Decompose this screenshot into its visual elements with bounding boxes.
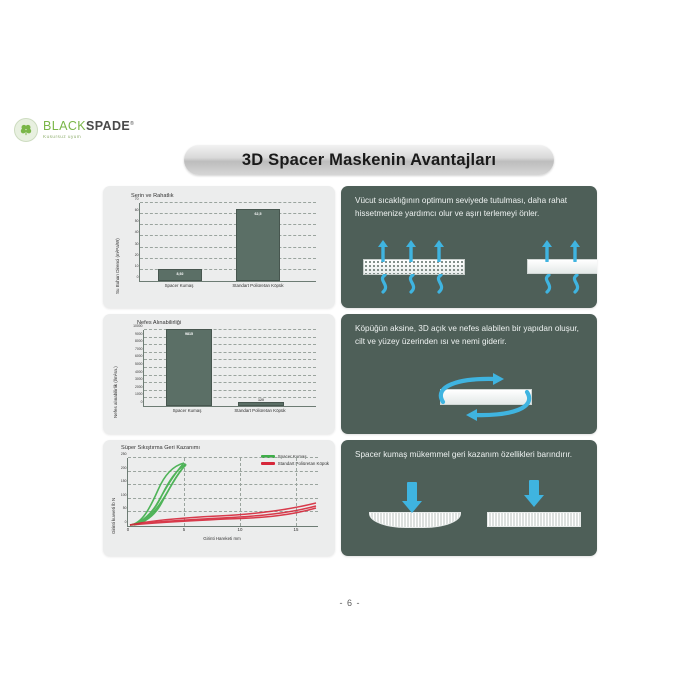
chart-ylabel-1: Su Buharı Direnci (m²Pa/W) [115, 238, 120, 294]
bar-value: 8,92 [159, 272, 201, 276]
brand-tagline: Kusursuz uyum [43, 135, 134, 140]
ytick: 4000 [135, 370, 143, 374]
content-row-2: Nefes Alınabilirliği Nefes alınabilirlik… [103, 314, 597, 434]
page-title: 3D Spacer Maskenin Avantajları [242, 151, 496, 170]
ytick: 2000 [135, 385, 143, 389]
chart-plot-1: 70 60 50 40 30 20 10 0 8,92 62,5 [139, 203, 316, 282]
ytick: 3000 [135, 377, 143, 381]
ytick: 40 [135, 230, 139, 234]
bar-value: 120 [239, 398, 283, 402]
ytick: 10000 [133, 324, 142, 328]
airflow-up-arrows-right [535, 238, 597, 262]
ytick: 8000 [135, 339, 143, 343]
chart-ylabel-2: Nefes alınabilirlik (l/m²sn.) [113, 366, 118, 418]
bar-standart-poliuretan: 62,5 [236, 209, 280, 281]
text-panel-3: Spacer kumaş mükemmel geri kazanım özell… [341, 440, 597, 556]
chart-panel-water-vapour: Serin ve Rahatlık Su Buharı Direnci (m²P… [103, 186, 335, 308]
content-row-1: Serin ve Rahatlık Su Buharı Direnci (m²P… [103, 186, 597, 308]
ytick: 100 [121, 493, 127, 497]
chart-plot-3: 250 200 150 100 50 0 [127, 458, 318, 527]
ytick: 70 [135, 197, 139, 201]
ytick: 20 [135, 253, 139, 257]
airflow-wave-arrows-left [371, 274, 467, 296]
content-row-3: Süper Sıkıştırma Geri Kazanımı Girinti k… [103, 440, 597, 556]
page-number: - 6 - [0, 598, 700, 608]
ytick: 10 [135, 264, 139, 268]
brand-logo: BLACKSPADE® Kusursuz uyum [14, 118, 134, 142]
ytick: 50 [135, 219, 139, 223]
brand-name-dark: SPADE [86, 119, 130, 133]
ytick: 0 [137, 275, 139, 279]
bar-spacer-kumas: 8,92 [158, 269, 202, 281]
chart-xlabel-3: Girinti Hareketi mm [127, 536, 317, 541]
airflow-up-arrows-left [371, 238, 467, 262]
text-panel-1: Vücut sıcaklığının optimum seviyede tutu… [341, 186, 597, 308]
bar-spacer-kumas: 9815 [166, 329, 212, 406]
xtick-label: 15 [290, 527, 302, 533]
chart-panel-compression-recovery: Süper Sıkıştırma Geri Kazanımı Girinti k… [103, 440, 335, 556]
document-page: BLACKSPADE® Kusursuz uyum 3D Spacer Mask… [0, 0, 700, 700]
panel-text-3: Spacer kumaş mükemmel geri kazanım özell… [355, 449, 587, 462]
xtick-label: Standart Poliüretan Köpük [222, 283, 294, 289]
ytick: 1000 [135, 392, 143, 396]
xtick-label: 10 [234, 527, 246, 533]
panel-text-2: Köpüğün aksine, 3D açık ve nefes alabile… [355, 323, 587, 348]
xtick-label: Spacer Kumaş [142, 283, 216, 289]
ytick: 50 [123, 506, 127, 510]
bar-value: 9815 [167, 332, 211, 336]
bar-standart-poliuretan: 120 [238, 402, 284, 406]
registered-mark: ® [130, 121, 134, 127]
xtick-label: 0 [122, 527, 134, 533]
chart-title-3: Süper Sıkıştırma Geri Kazanımı [121, 445, 200, 451]
hysteresis-curves [128, 458, 318, 526]
ytick: 30 [135, 242, 139, 246]
clover-circle-icon [14, 118, 38, 142]
ytick: 150 [121, 479, 127, 483]
text-panel-2: Köpüğün aksine, 3D açık ve nefes alabile… [341, 314, 597, 434]
panel-text-1: Vücut sıcaklığının optimum seviyede tutu… [355, 195, 587, 220]
recovered-slab-illustration [487, 512, 581, 527]
brand-name-light: BLACK [43, 119, 86, 133]
ytick: 60 [135, 208, 139, 212]
circulating-arrows-icon [419, 372, 551, 422]
ytick: 9000 [135, 332, 143, 336]
down-arrow-right-icon [521, 480, 547, 508]
ytick: 6000 [135, 354, 143, 358]
chart-ylabel-3: Girinti kuvveti lb N [111, 498, 116, 534]
xtick-label: Spacer Kumaş [150, 408, 224, 414]
ytick: 0 [125, 520, 127, 524]
ytick: 5000 [135, 362, 143, 366]
chart-plot-2: 10000 9000 8000 7000 6000 5000 4000 3000… [143, 330, 316, 407]
chart-panel-breathability: Nefes Alınabilirliği Nefes alınabilirlik… [103, 314, 335, 434]
down-arrow-left-icon [399, 482, 425, 514]
chart-title-2: Nefes Alınabilirliği [137, 320, 181, 326]
ytick: 200 [121, 466, 127, 470]
page-title-banner: 3D Spacer Maskenin Avantajları [184, 145, 554, 175]
xtick-label: 5 [178, 527, 190, 533]
ytick: 250 [121, 452, 127, 456]
xtick-label: Standart Poliüretan Köpük [224, 408, 296, 414]
bar-value: 62,5 [237, 212, 279, 216]
compressed-slab-illustration [369, 512, 461, 528]
airflow-wave-arrows-right [535, 274, 597, 296]
ytick: 0 [141, 400, 143, 404]
ytick: 7000 [135, 347, 143, 351]
